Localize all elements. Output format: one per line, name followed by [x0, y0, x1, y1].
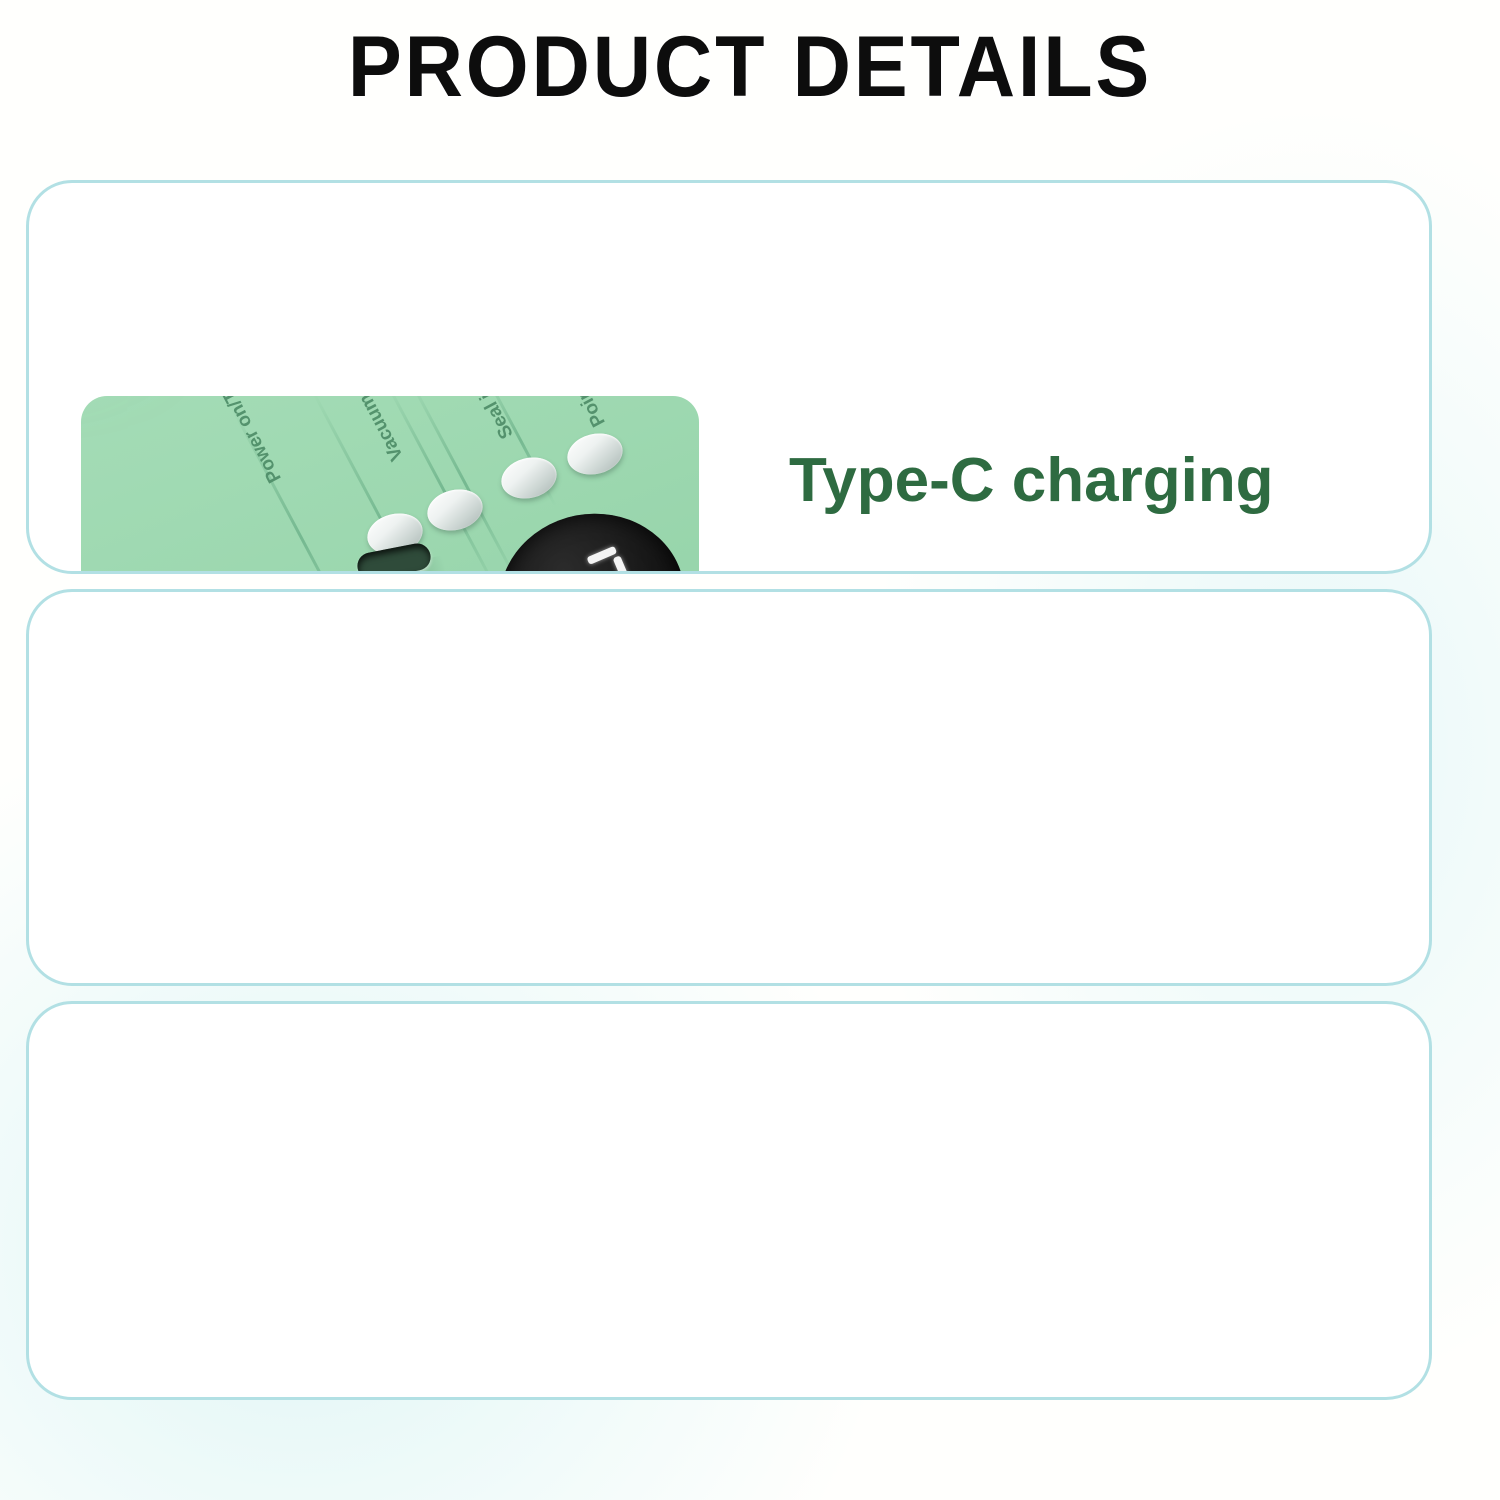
feature-card-2-inner: Outer joint Replace the external joint, … [29, 592, 1429, 983]
feature-card-outer-joint: Outer joint Replace the external joint, … [26, 589, 1432, 986]
feature-card-3-inner: Bag clip design Card bag mouth, accurate… [29, 1004, 1429, 1397]
feature-card-bag-clip-design: Bag clip design Card bag mouth, accurate… [26, 1001, 1432, 1400]
feature-heading-type-c-charging: Type-C charging [789, 445, 1274, 516]
led-segment [613, 555, 632, 571]
product-details-page: PRODUCT DETAILS Power on/Temperature Vac… [0, 0, 1500, 1500]
feature-card-1-inner: Power on/Temperature Vacuum seal Seal it… [29, 183, 1429, 571]
type-c-charging-photo: Power on/Temperature Vacuum seal Seal it… [81, 396, 699, 571]
feature-card-type-c-charging: Power on/Temperature Vacuum seal Seal it… [26, 180, 1432, 574]
led-segment [586, 546, 617, 565]
feature-text-block-1: Type-C charging [789, 445, 1274, 516]
page-title: PRODUCT DETAILS [45, 18, 1455, 117]
